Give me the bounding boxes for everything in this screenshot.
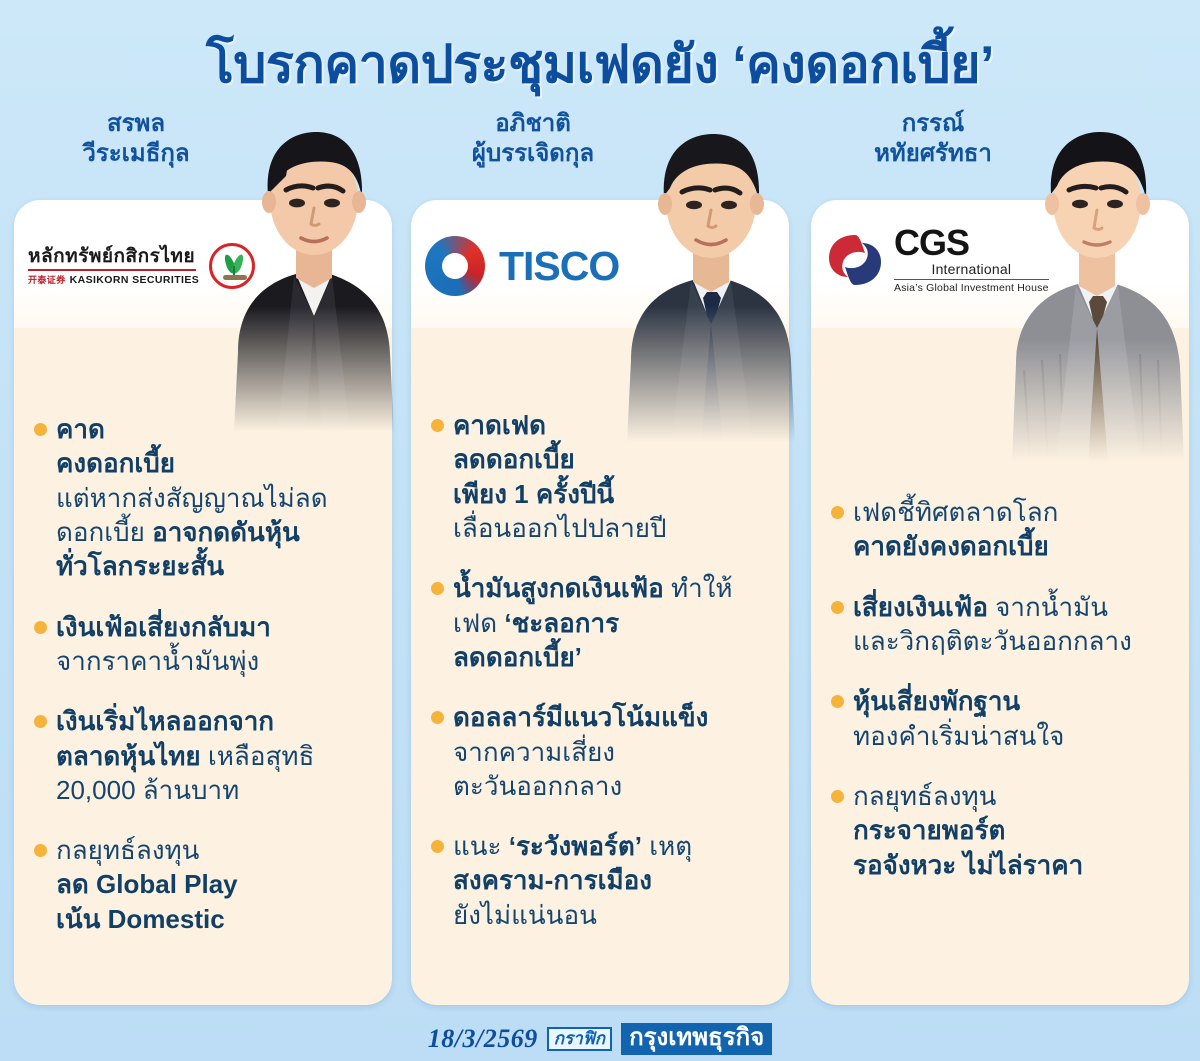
bullet-item: คาดเฟดลดดอกเบี้ยเพียง 1 ครั้งปีนี้เลื่อน… xyxy=(431,408,771,545)
bullet-text: จากน้ำมัน xyxy=(988,592,1108,622)
kasikorn-seal-icon xyxy=(209,243,255,289)
bullet-text: คาดเฟด xyxy=(453,410,546,440)
bullet-text: เพียง 1 ครั้งปีนี้ xyxy=(453,479,614,509)
bullet-dot-icon xyxy=(431,840,444,853)
bullet-text: คงดอกเบี้ย xyxy=(56,448,175,478)
analyst-column-3: กรรณ์ หทัยศรัทธา xyxy=(805,105,1195,1010)
bullet-item: เฟดชี้ทิศตลาดโลกคาดยังคงดอกเบี้ย xyxy=(831,495,1171,564)
bullet-list-3: เฟดชี้ทิศตลาดโลกคาดยังคงดอกเบี้ยเสี่ยงเง… xyxy=(831,495,1171,908)
bullet-text: สงคราม-การเมือง xyxy=(453,865,652,895)
publish-date: 18/3/2569 xyxy=(428,1024,538,1054)
bullet-dot-icon xyxy=(34,715,47,728)
bullet-text: และวิกฤติตะวันออกกลาง xyxy=(853,626,1132,656)
analyst-card-2: TISCO คาดเฟดลดดอกเบี้ยเพียง 1 ครั้งปีนี้… xyxy=(411,200,789,1005)
bullet-item: คาดคงดอกเบี้ยแต่หากส่งสัญญาณไม่ลดดอกเบี้… xyxy=(34,412,374,584)
bullet-item: เงินเริ่มไหลออกจากตลาดหุ้นไทย เหลือสุทธิ… xyxy=(34,704,374,807)
bullet-text: แต่หากส่งสัญญาณไม่ลด xyxy=(56,483,328,513)
bullet-text: หุ้นเสี่ยงพักฐาน xyxy=(853,686,1020,716)
bullet-text: เสี่ยงเงินเฟ้อ xyxy=(853,592,988,622)
footer: 18/3/2569 กราฟิก กรุงเทพธุรกิจ xyxy=(0,1023,1200,1055)
bullet-text: ‘ระวังพอร์ต’ xyxy=(509,831,642,861)
brand-badge: กรุงเทพธุรกิจ xyxy=(621,1023,772,1055)
analyst-name-2: อภิชาติ ผู้บรรเจิดกุล xyxy=(423,109,643,169)
bullet-text: จากความเสี่ยง xyxy=(453,737,615,767)
analyst-card-3: CGS International Asia’s Global Investme… xyxy=(811,200,1189,1005)
bullet-item: กลยุทธ์ลงทุนกระจายพอร์ตรอจังหวะ ไม่ไล่รา… xyxy=(831,779,1171,882)
bullet-text: ยังไม่แน่นอน xyxy=(453,900,597,930)
bullet-text: กลยุทธ์ลงทุน xyxy=(853,781,996,811)
bullet-text: ตลาดหุ้นไทย xyxy=(56,741,201,771)
tisco-ring-icon xyxy=(425,236,485,296)
bullet-item: ดอลลาร์มีแนวโน้มแข็งจากความเสี่ยงตะวันออ… xyxy=(431,700,771,803)
bullet-text: รอจังหวะ ไม่ไล่ราคา xyxy=(853,850,1083,880)
bullet-item: เงินเฟ้อเสี่ยงกลับมาจากราคาน้ำมันพุ่ง xyxy=(34,610,374,679)
bullet-text: 20,000 ล้านบาท xyxy=(56,775,239,805)
bullet-text: ลดดอกเบี้ย’ xyxy=(453,642,582,672)
bullet-item: เสี่ยงเงินเฟ้อ จากน้ำมันและวิกฤติตะวันออ… xyxy=(831,590,1171,659)
bullet-list-2: คาดเฟดลดดอกเบี้ยเพียง 1 ครั้งปีนี้เลื่อน… xyxy=(431,408,771,958)
cgs-swirl-icon xyxy=(825,231,885,289)
logo-divider xyxy=(28,269,196,271)
analyst-card-1: หลักทรัพย์กสิกรไทย 开泰证券KASIKORN SECURITI… xyxy=(14,200,392,1005)
bullet-text: ตะวันออกกลาง xyxy=(453,771,622,801)
bullet-list-1: คาดคงดอกเบี้ยแต่หากส่งสัญญาณไม่ลดดอกเบี้… xyxy=(34,412,374,962)
page-title: โบรกคาดประชุมเฟดยัง ‘คงดอกเบี้ย’ xyxy=(0,22,1200,105)
bullet-dot-icon xyxy=(34,844,47,857)
bullet-dot-icon xyxy=(831,695,844,708)
bullet-text: คาดยังคงดอกเบี้ย xyxy=(853,531,1049,561)
bullet-text: ดอลลาร์มีแนวโน้มแข็ง xyxy=(453,702,708,732)
logo-plate-2: TISCO xyxy=(411,200,789,328)
bullet-text: เฟด xyxy=(453,608,504,638)
bullet-text: เหลือสุทธิ xyxy=(201,741,315,771)
bullet-text: กระจายพอร์ต xyxy=(853,815,1005,845)
bullet-text: น้ำมันสูงกดเงินเฟ้อ xyxy=(453,573,664,603)
bullet-text: ลด Global Play xyxy=(56,869,238,899)
bullet-text: อาจกดดันหุ้น xyxy=(152,517,300,547)
analyst-name-3: กรรณ์ หทัยศรัทธา xyxy=(823,109,1043,169)
bullet-text: เฟดชี้ทิศตลาดโลก xyxy=(853,497,1058,527)
bullet-dot-icon xyxy=(34,423,47,436)
bullet-dot-icon xyxy=(831,601,844,614)
bullet-text: คาด xyxy=(56,414,105,444)
analyst-name-1: สรพล วีระเมธีกุล xyxy=(26,109,246,169)
bullet-dot-icon xyxy=(831,790,844,803)
bullet-text: เงินเริ่มไหลออกจาก xyxy=(56,706,274,736)
cgs-international-logo: CGS International Asia’s Global Investme… xyxy=(825,226,1049,293)
bullet-text: ลดดอกเบี้ย xyxy=(453,444,575,474)
bullet-item: น้ำมันสูงกดเงินเฟ้อ ทำให้เฟด ‘ชะลอการลดด… xyxy=(431,571,771,674)
bullet-item: แนะ ‘ระวังพอร์ต’ เหตุสงคราม-การเมืองยังไ… xyxy=(431,829,771,932)
graphic-label: กราฟิก xyxy=(547,1027,612,1051)
bullet-text: แนะ xyxy=(453,831,509,861)
bullet-text: ทองคำเริ่มน่าสนใจ xyxy=(853,721,1064,751)
bullet-dot-icon xyxy=(431,419,444,432)
bullet-dot-icon xyxy=(431,582,444,595)
columns-container: สรพล วีระเมธีกุล xyxy=(0,105,1200,1010)
bullet-dot-icon xyxy=(431,711,444,724)
analyst-column-2: อภิชาติ ผู้บรรเจิดกุล xyxy=(405,105,795,1010)
bullet-dot-icon xyxy=(831,506,844,519)
bullet-text: เน้น Domestic xyxy=(56,904,225,934)
bullet-text: ดอกเบี้ย xyxy=(56,517,152,547)
bullet-text: ทั่วโลกระยะสั้น xyxy=(56,551,224,581)
logo-plate-1: หลักทรัพย์กสิกรไทย 开泰证券KASIKORN SECURITI… xyxy=(14,200,392,328)
bullet-text: เงินเฟ้อเสี่ยงกลับมา xyxy=(56,612,271,642)
bullet-text: ‘ชะลอการ xyxy=(504,608,619,638)
bullet-item: หุ้นเสี่ยงพักฐานทองคำเริ่มน่าสนใจ xyxy=(831,684,1171,753)
bullet-item: กลยุทธ์ลงทุนลด Global Playเน้น Domestic xyxy=(34,833,374,936)
infographic-page: โบรกคาดประชุมเฟดยัง ‘คงดอกเบี้ย’ สรพล วี… xyxy=(0,0,1200,1061)
bullet-dot-icon xyxy=(34,621,47,634)
kasikorn-securities-logo: หลักทรัพย์กสิกรไทย 开泰证券KASIKORN SECURITI… xyxy=(28,243,255,289)
bullet-text: เลื่อนออกไปปลายปี xyxy=(453,513,667,543)
analyst-column-1: สรพล วีระเมธีกุล xyxy=(8,105,398,1010)
tisco-logo: TISCO xyxy=(425,236,619,296)
bullet-text: ทำให้ xyxy=(664,573,733,603)
logo-plate-3: CGS International Asia’s Global Investme… xyxy=(811,200,1189,328)
bullet-text: กลยุทธ์ลงทุน xyxy=(56,835,199,865)
bullet-text: จากราคาน้ำมันพุ่ง xyxy=(56,646,259,676)
bullet-text: เหตุ xyxy=(642,831,692,861)
